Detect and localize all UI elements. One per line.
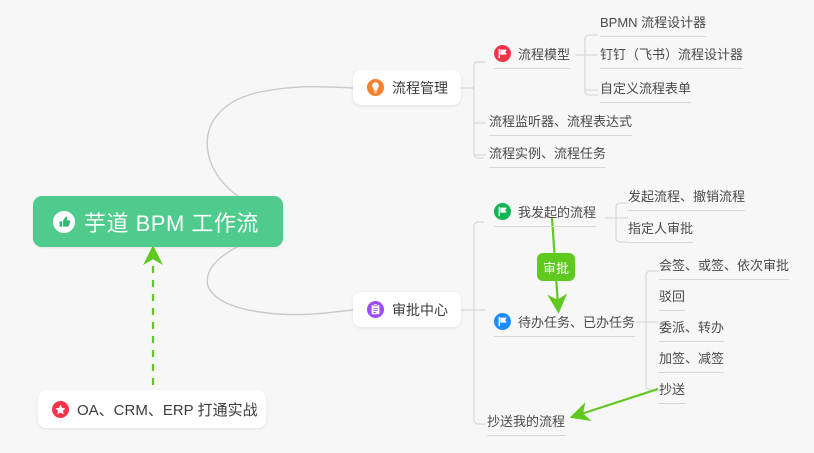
- branch-node-approval-center[interactable]: 审批中心: [353, 292, 461, 327]
- root-node[interactable]: 芋道 BPM 工作流: [33, 196, 283, 247]
- lightbulb-icon: [367, 79, 384, 96]
- mindmap-canvas: 芋道 BPM 工作流 流程管理 流程模型 BPMN 流程设计器 钉钉（飞书）流程…: [0, 0, 814, 453]
- footer-note-label: OA、CRM、ERP 打通实战: [77, 399, 258, 420]
- star-icon: [52, 401, 69, 418]
- leaf-delegate-transfer[interactable]: 委派、转办: [659, 317, 724, 342]
- leaf-cc[interactable]: 抄送: [659, 379, 685, 404]
- branch-label: 审批中心: [392, 300, 448, 320]
- leaf-start-cancel-process[interactable]: 发起流程、撤销流程: [628, 186, 745, 211]
- leaf-add-remove-sign[interactable]: 加签、减签: [659, 348, 724, 373]
- flag-icon: [494, 313, 511, 330]
- approve-chip-label: 审批: [543, 258, 569, 277]
- subnode-label: 流程模型: [518, 44, 570, 63]
- branch-label: 流程管理: [392, 78, 448, 98]
- leaf-multi-sign[interactable]: 会签、或签、依次审批: [659, 255, 789, 280]
- leaf-bpmn-designer[interactable]: BPMN 流程设计器: [600, 12, 706, 37]
- subnode-my-initiated[interactable]: 我发起的流程: [494, 202, 596, 227]
- subnode-label: 待办任务、已办任务: [518, 312, 635, 331]
- leaf-custom-form[interactable]: 自定义流程表单: [600, 78, 691, 103]
- root-label: 芋道 BPM 工作流: [84, 206, 259, 238]
- thumbs-up-icon: [53, 211, 75, 233]
- subnode-todo-done-tasks[interactable]: 待办任务、已办任务: [494, 312, 635, 337]
- subnode-flow-model[interactable]: 流程模型: [494, 44, 570, 69]
- leaf-dingtalk-designer[interactable]: 钉钉（飞书）流程设计器: [600, 44, 743, 69]
- flag-icon: [494, 45, 511, 62]
- leaf-assignee-approval[interactable]: 指定人审批: [628, 218, 693, 243]
- subnode-label: 我发起的流程: [518, 202, 596, 221]
- subnode-instance-task[interactable]: 流程实例、流程任务: [489, 143, 606, 168]
- subnode-listener-expression[interactable]: 流程监听器、流程表达式: [489, 111, 632, 136]
- footer-note-node[interactable]: OA、CRM、ERP 打通实战: [38, 390, 266, 428]
- subnode-cc-to-me[interactable]: 抄送我的流程: [487, 411, 565, 436]
- flag-icon: [494, 203, 511, 220]
- approve-chip: 审批: [537, 253, 575, 281]
- branch-node-flow-management[interactable]: 流程管理: [353, 70, 461, 105]
- clipboard-icon: [367, 301, 384, 318]
- leaf-reject[interactable]: 驳回: [659, 286, 685, 311]
